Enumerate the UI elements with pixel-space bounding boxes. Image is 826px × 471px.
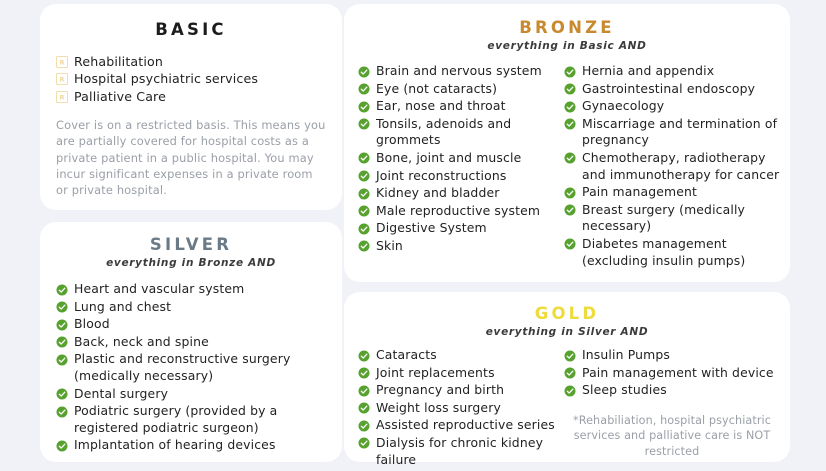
feature-item-label: Implantation of hearing devices: [74, 437, 276, 452]
check-circle-icon: [564, 66, 576, 78]
feature-item: Eye (not cataracts): [358, 81, 564, 98]
feature-item: Dental surgery: [56, 386, 332, 403]
tier-subtitle-silver: everything in Bronze AND: [40, 257, 342, 269]
feature-item: Assisted reproductive series: [358, 417, 564, 434]
feature-item: Brain and nervous system: [358, 63, 564, 80]
feature-item-label: Male reproductive system: [376, 203, 540, 218]
svg-text:R: R: [59, 93, 64, 101]
tier-title-gold: GOLD: [344, 292, 790, 323]
feature-item-label: Cataracts: [376, 347, 437, 362]
svg-text:R: R: [59, 76, 64, 84]
check-circle-icon: [56, 440, 68, 452]
feature-item: Blood: [56, 316, 332, 333]
feature-item-label: Blood: [74, 316, 110, 331]
check-circle-icon: [56, 319, 68, 331]
feature-item: RRehabilitation: [56, 53, 342, 70]
check-circle-icon: [564, 350, 576, 362]
feature-item: Dialysis for chronic kidney failure: [358, 435, 564, 468]
check-circle-icon: [358, 385, 370, 397]
tier-card-gold: GOLD everything in Silver AND CataractsJ…: [344, 292, 790, 462]
tier-subtitle-bronze: everything in Basic AND: [344, 40, 790, 52]
feature-item: Lung and chest: [56, 299, 332, 316]
restricted-r-icon: R: [56, 90, 68, 102]
check-circle-icon: [358, 83, 370, 95]
feature-item: RHospital psychiatric services: [56, 70, 342, 87]
tier-subtitle-gold: everything in Silver AND: [344, 326, 790, 338]
restricted-r-icon: R: [56, 55, 68, 67]
feature-item-label: Assisted reproductive series: [376, 417, 555, 432]
feature-item: Digestive System: [358, 220, 564, 237]
feature-item: Pain management with device: [564, 365, 780, 382]
gold-footnote: *Rehabiliation, hospital psychiatric ser…: [564, 413, 780, 460]
tier-title-bronze: BRONZE: [344, 4, 790, 37]
check-circle-icon: [564, 385, 576, 397]
feature-item-label: Joint replacements: [376, 365, 495, 380]
feature-item-label: Kidney and bladder: [376, 185, 499, 200]
restricted-r-icon: R: [56, 72, 68, 84]
feature-item: Tonsils, adenoids and grommets: [358, 116, 564, 149]
feature-item: RPalliative Care: [56, 88, 342, 105]
check-circle-icon: [358, 402, 370, 414]
feature-item-label: Lung and chest: [74, 299, 171, 314]
tier-card-silver: SILVER everything in Bronze AND Heart an…: [40, 222, 342, 462]
feature-item: Podiatric surgery (provided by a registe…: [56, 403, 332, 436]
check-circle-icon: [56, 406, 68, 418]
feature-item: Diabetes management (excluding insulin p…: [564, 236, 780, 269]
gold-feature-list-left: CataractsJoint replacementsPregnancy and…: [358, 347, 564, 471]
check-circle-icon: [358, 367, 370, 379]
feature-item-label: Pain management with device: [582, 365, 774, 380]
feature-item-label: Chemotherapy, radiotherapy and immunothe…: [582, 150, 779, 182]
gold-columns: CataractsJoint replacementsPregnancy and…: [344, 347, 790, 471]
check-circle-icon: [56, 301, 68, 313]
gold-right-column: Insulin PumpsPain management with device…: [564, 347, 780, 471]
svg-text:R: R: [59, 59, 64, 67]
feature-item: Ear, nose and throat: [358, 98, 564, 115]
feature-item-label: Brain and nervous system: [376, 63, 542, 78]
check-circle-icon: [564, 367, 576, 379]
feature-item: Weight loss surgery: [358, 400, 564, 417]
feature-item: Hernia and appendix: [564, 63, 780, 80]
check-circle-icon: [56, 388, 68, 400]
feature-item: Bone, joint and muscle: [358, 150, 564, 167]
feature-item: Heart and vascular system: [56, 281, 332, 298]
feature-item: Back, neck and spine: [56, 334, 332, 351]
check-circle-icon: [564, 204, 576, 216]
cover-tiers-board: BASIC RRehabilitationRHospital psychiatr…: [0, 0, 826, 465]
check-circle-icon: [358, 152, 370, 164]
tier-card-basic: BASIC RRehabilitationRHospital psychiatr…: [40, 4, 342, 210]
feature-item: Cataracts: [358, 347, 564, 364]
check-circle-icon: [358, 350, 370, 362]
check-circle-icon: [358, 170, 370, 182]
feature-item-label: Insulin Pumps: [582, 347, 670, 362]
feature-item-label: Back, neck and spine: [74, 334, 209, 349]
feature-item-label: Gynaecology: [582, 98, 664, 113]
check-circle-icon: [564, 101, 576, 113]
tier-title-basic: BASIC: [40, 4, 342, 39]
feature-item-label: Digestive System: [376, 220, 487, 235]
feature-item: Miscarriage and termination of pregnancy: [564, 116, 780, 149]
feature-item-label: Dialysis for chronic kidney failure: [376, 435, 543, 467]
feature-item-label: Plastic and reconstructive surgery (medi…: [74, 351, 290, 383]
check-circle-icon: [358, 420, 370, 432]
check-circle-icon: [564, 238, 576, 250]
feature-item-label: Rehabilitation: [74, 54, 163, 69]
check-circle-icon: [358, 101, 370, 113]
basic-restriction-note: Cover is on a restricted basis. This mea…: [56, 117, 326, 198]
feature-item: Implantation of hearing devices: [56, 437, 332, 454]
feature-item-label: Heart and vascular system: [74, 281, 244, 296]
feature-item: Joint replacements: [358, 365, 564, 382]
feature-item-label: Weight loss surgery: [376, 400, 501, 415]
feature-item-label: Ear, nose and throat: [376, 98, 506, 113]
tier-card-bronze: BRONZE everything in Basic AND Brain and…: [344, 4, 790, 282]
silver-feature-list: Heart and vascular systemLung and chestB…: [56, 281, 342, 454]
check-circle-icon: [564, 118, 576, 130]
feature-item: Pain management: [564, 184, 780, 201]
check-circle-icon: [56, 336, 68, 348]
feature-item-label: Eye (not cataracts): [376, 81, 497, 96]
feature-item: Chemotherapy, radiotherapy and immunothe…: [564, 150, 780, 183]
tier-title-silver: SILVER: [40, 222, 342, 254]
check-circle-icon: [564, 83, 576, 95]
feature-item-label: Joint reconstructions: [376, 168, 506, 183]
check-circle-icon: [564, 152, 576, 164]
feature-item-label: Pain management: [582, 184, 697, 199]
bronze-columns: Brain and nervous systemEye (not catarac…: [344, 63, 790, 270]
feature-item: Plastic and reconstructive surgery (medi…: [56, 351, 332, 384]
check-circle-icon: [358, 66, 370, 78]
check-circle-icon: [358, 437, 370, 449]
feature-item-label: Podiatric surgery (provided by a registe…: [74, 403, 277, 435]
check-circle-icon: [358, 188, 370, 200]
feature-item-label: Breast surgery (medically necessary): [582, 202, 745, 234]
check-circle-icon: [358, 223, 370, 235]
feature-item: Joint reconstructions: [358, 168, 564, 185]
basic-feature-list: RRehabilitationRHospital psychiatric ser…: [56, 53, 342, 105]
check-circle-icon: [56, 354, 68, 366]
feature-item: Pregnancy and birth: [358, 382, 564, 399]
feature-item: Insulin Pumps: [564, 347, 780, 364]
feature-item: Gynaecology: [564, 98, 780, 115]
feature-item-label: Dental surgery: [74, 386, 168, 401]
feature-item: Male reproductive system: [358, 203, 564, 220]
feature-item: Kidney and bladder: [358, 185, 564, 202]
check-circle-icon: [358, 205, 370, 217]
feature-item-label: Tonsils, adenoids and grommets: [376, 116, 511, 148]
feature-item-label: Sleep studies: [582, 382, 667, 397]
feature-item: Breast surgery (medically necessary): [564, 202, 780, 235]
gold-feature-list-right: Insulin PumpsPain management with device…: [564, 347, 780, 399]
feature-item: Skin: [358, 238, 564, 255]
check-circle-icon: [358, 118, 370, 130]
feature-item-label: Gastrointestinal endoscopy: [582, 81, 755, 96]
feature-item: Sleep studies: [564, 382, 780, 399]
bronze-feature-list-right: Hernia and appendixGastrointestinal endo…: [564, 63, 780, 270]
feature-item-label: Bone, joint and muscle: [376, 150, 521, 165]
feature-item-label: Hospital psychiatric services: [74, 71, 258, 86]
feature-item-label: Skin: [376, 238, 403, 253]
feature-item-label: Diabetes management (excluding insulin p…: [582, 236, 745, 268]
check-circle-icon: [358, 240, 370, 252]
feature-item-label: Hernia and appendix: [582, 63, 714, 78]
check-circle-icon: [564, 187, 576, 199]
feature-item-label: Miscarriage and termination of pregnancy: [582, 116, 777, 148]
feature-item-label: Palliative Care: [74, 89, 166, 104]
feature-item-label: Pregnancy and birth: [376, 382, 504, 397]
feature-item: Gastrointestinal endoscopy: [564, 81, 780, 98]
bronze-feature-list-left: Brain and nervous systemEye (not catarac…: [358, 63, 564, 270]
check-circle-icon: [56, 284, 68, 296]
